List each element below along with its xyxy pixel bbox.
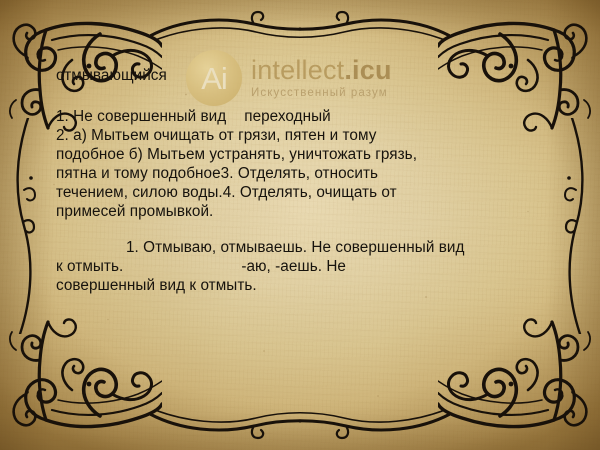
definition-line-2: 2. а) Мытьем очищать от грязи, пятен и т…: [56, 126, 556, 145]
definition-line-3: подобное б) Мытьем устранять, уничтожать…: [56, 145, 556, 164]
definition-line-6: примесей промывкой.: [56, 202, 556, 221]
definition-line-1-continued: переходный: [244, 108, 331, 125]
definitions-block: 1. Не совершенный видпереходный 2. а) Мы…: [56, 107, 556, 221]
conjugation-line-1-text: 1. Отмываю, отмываешь. Не совершенный ви…: [126, 239, 464, 256]
definition-line-1: 1. Не совершенный видпереходный: [56, 107, 556, 126]
conjugation-line-1: 1. Отмываю, отмываешь. Не совершенный ви…: [56, 238, 556, 257]
page-title: отмывающийся: [56, 66, 556, 85]
definition-line-4: пятна и тому подобное3. Отделять, относи…: [56, 164, 556, 183]
dictionary-entry: отмывающийся 1. Не совершенный видперехо…: [56, 66, 556, 295]
definition-line-5: течением, силою воды.4. Отделять, очищат…: [56, 183, 556, 202]
parchment-page: Ai intellect.icu Искусственный разум отм…: [0, 0, 600, 450]
conjugation-line-2-text: к отмыть.: [56, 258, 123, 275]
conjugation-block: 1. Отмываю, отмываешь. Не совершенный ви…: [56, 238, 556, 295]
conjugation-line-2-continued: -аю, -аешь. Не: [241, 258, 346, 275]
conjugation-line-2: к отмыть.-аю, -аешь. Не: [56, 257, 556, 276]
definition-line-1-text: 1. Не совершенный вид: [56, 108, 226, 125]
conjugation-line-3: совершенный вид к отмыть.: [56, 276, 556, 295]
